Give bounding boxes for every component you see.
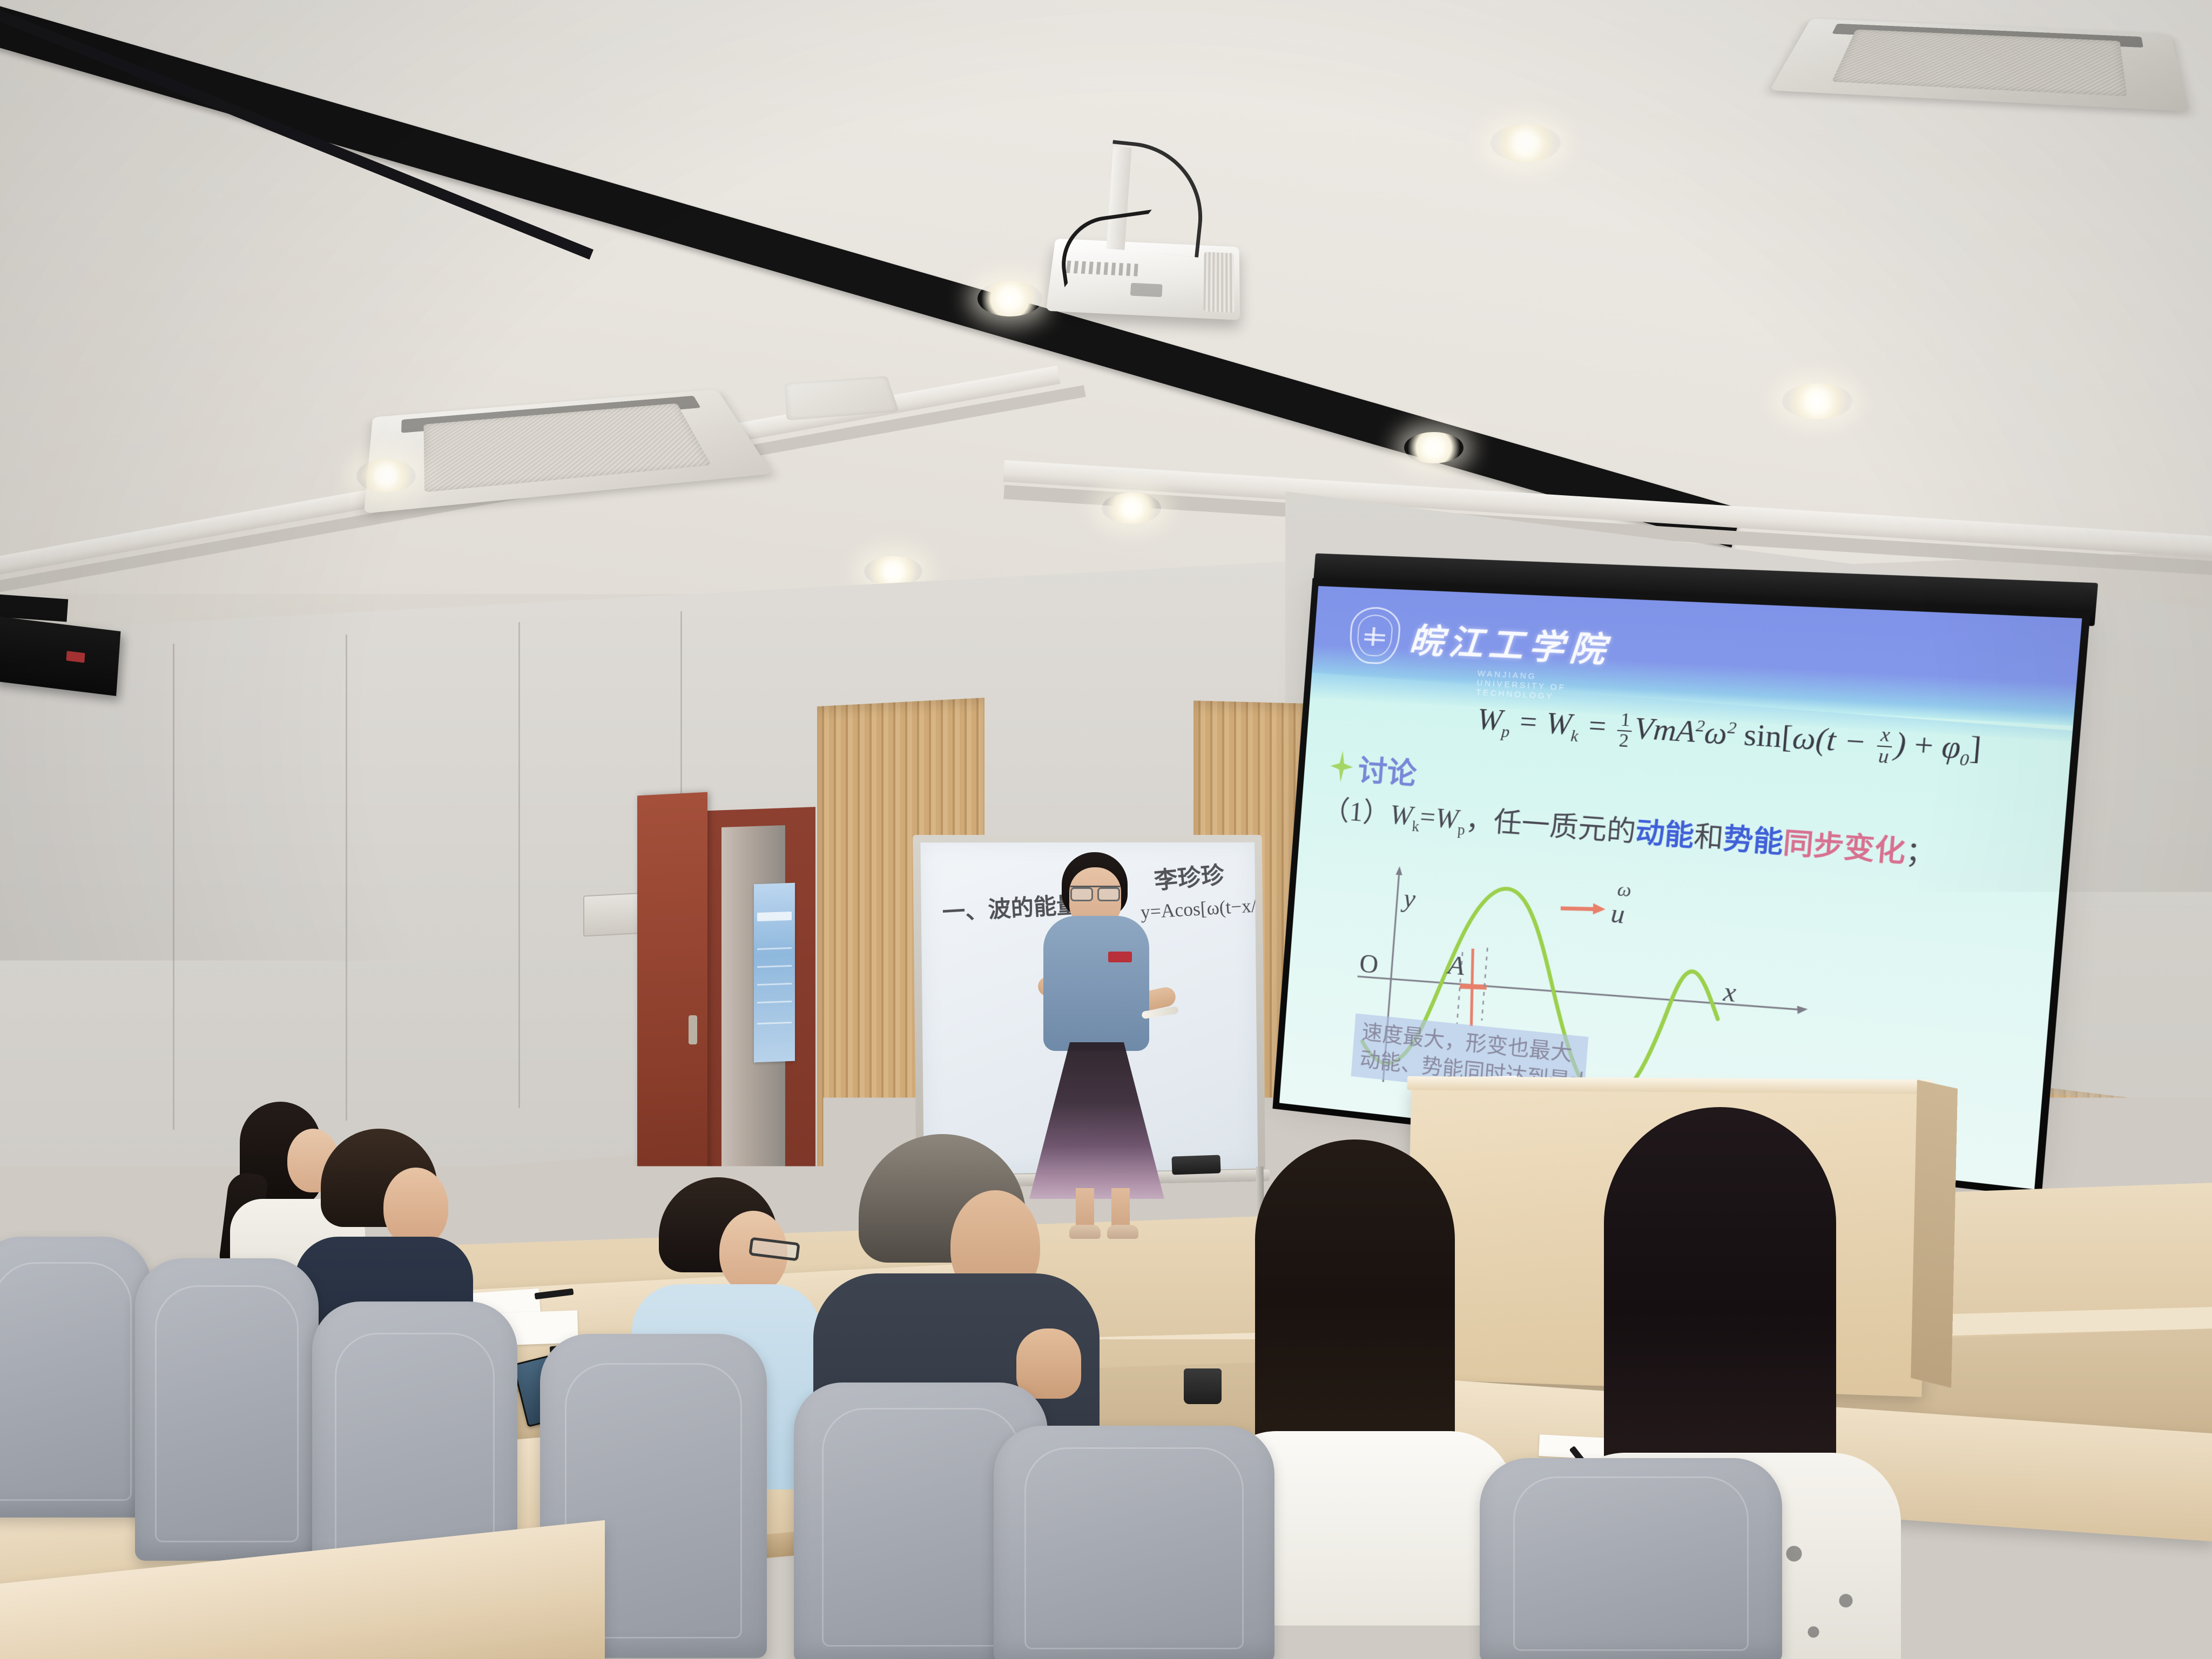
university-seal-icon (1348, 606, 1402, 665)
downlight-icon (1404, 432, 1464, 463)
formula-xu-fraction: x u (1875, 725, 1893, 767)
presenter-badge (1108, 952, 1132, 962)
wall-seam (346, 635, 347, 1121)
formula-wk: W (1545, 706, 1573, 741)
slide-bullet-1: （1）Wk=Wp，任一质元的动能和势能同步变化； (1321, 787, 1939, 874)
downlight-icon (1491, 124, 1561, 162)
sparkle-icon (1329, 750, 1354, 783)
formula-wk-sub: k (1570, 727, 1579, 745)
wall-seam (518, 622, 520, 1108)
formula-x: x (1877, 725, 1893, 747)
door-handle-icon[interactable] (689, 1015, 697, 1044)
university-name-cn: 皖江工学院 (1408, 612, 1613, 672)
formula-sin: sin (1743, 717, 1783, 754)
audience-face (383, 1168, 448, 1246)
bullet-1-wp-sub: p (1457, 821, 1466, 838)
formula-omega-sup: 2 (1727, 718, 1737, 738)
graph-amplitude-label: A (1447, 950, 1466, 982)
lecture-hall-photo: 皖江工学院 WANJIANG UNIVERSITY OF TECHNOLOGY … (0, 0, 2212, 1659)
formula-wp: W (1476, 702, 1503, 737)
downlight-icon (1782, 383, 1852, 419)
bullet-1-wp: W (1434, 802, 1460, 834)
formula-bracket-close: ] (1968, 730, 1982, 766)
downlight-icon (356, 459, 416, 493)
wall-poster (754, 883, 795, 1063)
bullet-1-prefix: （1） (1321, 794, 1391, 829)
presenter-shoe (1107, 1225, 1138, 1239)
bullet-1-end: ； (1904, 835, 1938, 871)
graph-omega-label: ω (1616, 879, 1632, 902)
lectern-top (1407, 1076, 1933, 1094)
formula-wp-sub: p (1501, 723, 1510, 741)
lectern-side (1911, 1080, 1958, 1387)
bullet-1-potential: 势能 (1722, 822, 1784, 859)
discuss-heading: 讨论 (1329, 744, 1419, 793)
presenter-leg (1111, 1188, 1130, 1229)
graph-origin-label: O (1358, 948, 1379, 980)
graph-y-label: y (1402, 883, 1417, 914)
formula-phi-sub: 0 (1959, 750, 1970, 770)
formula-eq2: = (1586, 709, 1609, 744)
formula-half-den: 2 (1616, 731, 1631, 751)
formula-omega: ω (1703, 715, 1729, 751)
discuss-label: 讨论 (1357, 746, 1418, 793)
presenter-top (1043, 916, 1149, 1051)
downlight-icon (1102, 493, 1161, 524)
formula-phi: φ (1940, 729, 1962, 765)
bullet-1-wk: W (1389, 799, 1414, 831)
bullet-1-wk-sub: k (1411, 818, 1420, 834)
formula-half-fraction: 1 2 (1616, 711, 1633, 751)
formula-u: u (1875, 746, 1892, 767)
formula-inner: ω(t − (1791, 720, 1868, 759)
bullet-1-rest: ，任一质元的 (1465, 804, 1637, 848)
wall-seam (173, 644, 174, 1130)
formula-close-paren: ) (1893, 726, 1907, 761)
bullet-1-kinetic: 动能 (1634, 816, 1695, 852)
glasses-icon (1070, 886, 1120, 896)
graph-x-label: x (1722, 976, 1737, 1008)
bullet-1-sync: 同步变化 (1782, 827, 1907, 868)
formula-plus: + (1913, 727, 1935, 763)
downlight-icon (977, 281, 1042, 316)
door[interactable] (637, 792, 707, 1223)
formula-eq1: = (1517, 705, 1540, 739)
bullet-1-and: 和 (1692, 820, 1724, 854)
formula-half-num: 1 (1617, 711, 1633, 732)
formula-body: VmA (1633, 711, 1697, 749)
graph-velocity-label: u (1610, 898, 1626, 930)
